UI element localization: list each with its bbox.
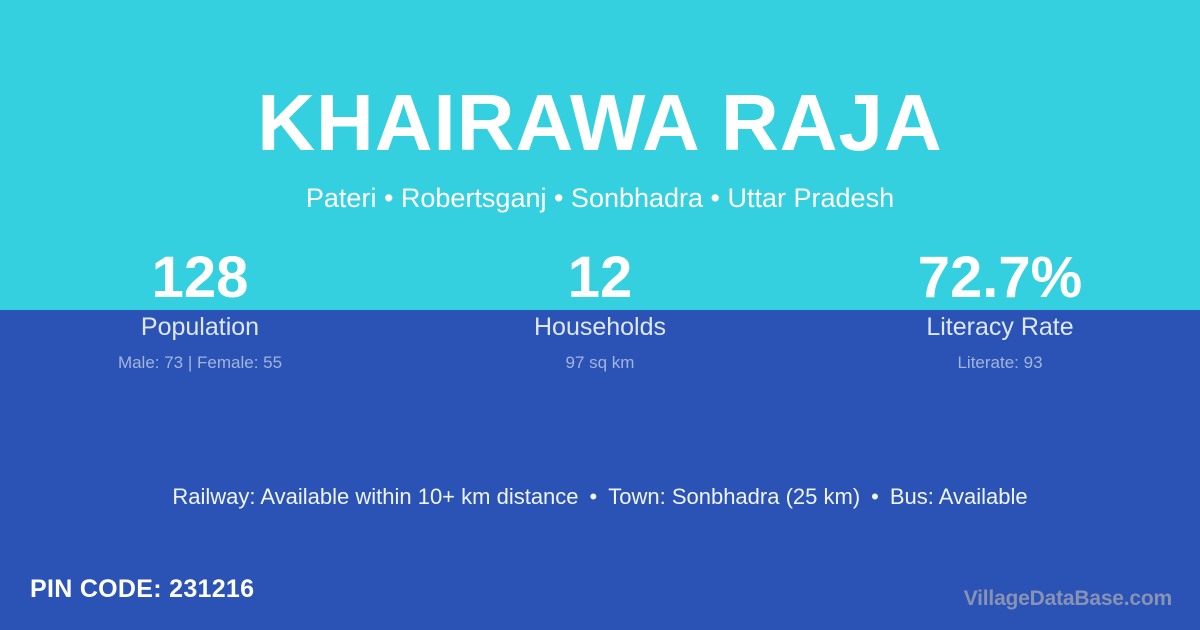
stat-value: 128 bbox=[152, 246, 249, 310]
stat-label: Literacy Rate bbox=[926, 313, 1073, 342]
bullet-separator-icon: • bbox=[860, 484, 890, 510]
bullet-separator-icon: • bbox=[579, 484, 609, 510]
stat-sublabel: 97 sq km bbox=[566, 353, 635, 373]
stat-label: Households bbox=[534, 313, 666, 342]
stat-value: 72.7% bbox=[918, 246, 1082, 310]
stat-population: 128 Population Male: 73 | Female: 55 bbox=[0, 246, 400, 386]
bus-info: Bus: Available bbox=[890, 484, 1028, 509]
stats-row: 128 Population Male: 73 | Female: 55 12 … bbox=[0, 246, 1200, 386]
brand-watermark: VillageDataBase.com bbox=[964, 586, 1172, 611]
town-info: Town: Sonbhadra (25 km) bbox=[608, 484, 860, 509]
stat-label: Population bbox=[141, 313, 259, 342]
location-breadcrumb: Pateri • Robertsganj • Sonbhadra • Uttar… bbox=[0, 182, 1200, 214]
railway-info: Railway: Available within 10+ km distanc… bbox=[172, 484, 578, 509]
stat-households: 12 Households 97 sq km bbox=[400, 246, 800, 386]
amenities-row: Railway: Available within 10+ km distanc… bbox=[0, 484, 1200, 510]
stat-literacy-rate: 72.7% Literacy Rate Literate: 93 bbox=[800, 246, 1200, 386]
page-title: KHAIRAWA RAJA bbox=[0, 83, 1200, 163]
village-info-card: KHAIRAWA RAJA Pateri • Robertsganj • Son… bbox=[0, 0, 1200, 630]
pin-code: PIN CODE: 231216 bbox=[30, 574, 254, 604]
stat-value: 12 bbox=[568, 246, 633, 310]
stat-sublabel: Male: 73 | Female: 55 bbox=[118, 353, 282, 373]
stat-sublabel: Literate: 93 bbox=[957, 353, 1042, 373]
